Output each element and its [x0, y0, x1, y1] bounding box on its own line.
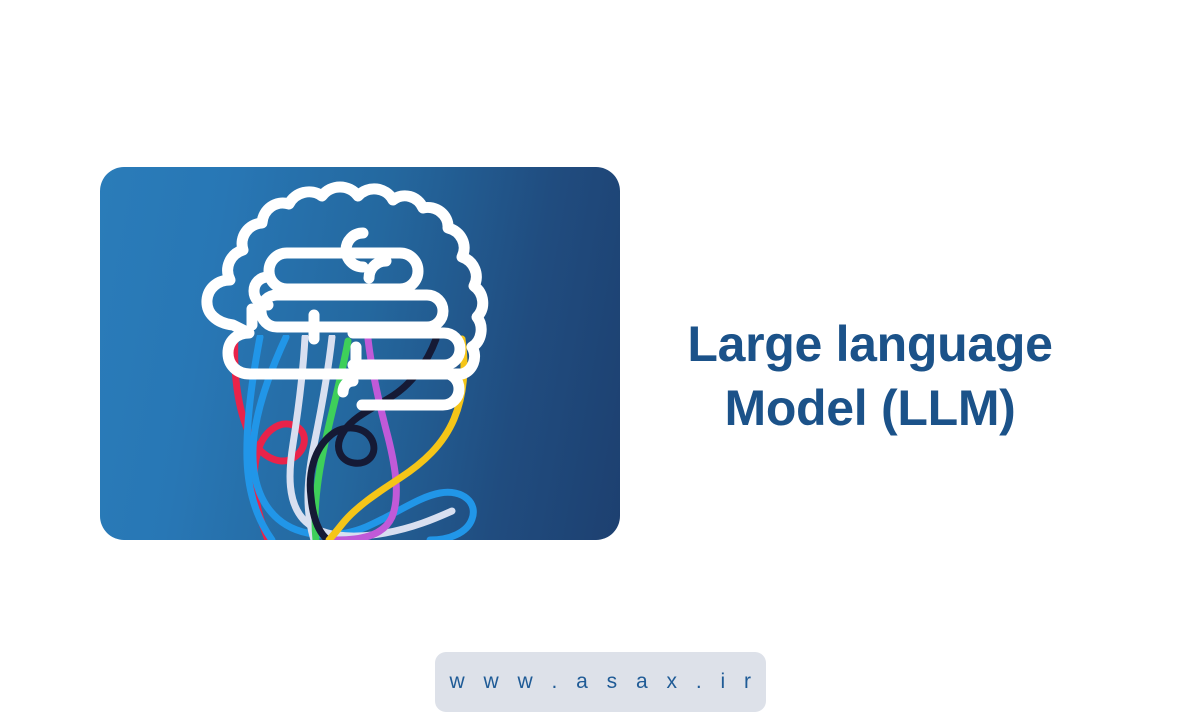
brain-maze-hook-right	[369, 261, 386, 278]
brain-maze-hook-left	[254, 277, 268, 305]
page-title-line-2: Model (LLM)	[640, 376, 1100, 440]
watermark-url-text: w w w . a s a x . i r	[443, 670, 757, 694]
brain-illustration-svg	[100, 167, 620, 540]
brain-maze-tail	[343, 381, 353, 392]
llm-brain-illustration-card	[100, 167, 620, 540]
watermark-badge: w w w . a s a x . i r	[435, 652, 766, 712]
page-title: Large language Model (LLM)	[640, 312, 1100, 440]
brain-outline	[207, 187, 483, 405]
page-title-line-1: Large language	[640, 312, 1100, 376]
brain-maze-channel-2	[261, 295, 443, 327]
